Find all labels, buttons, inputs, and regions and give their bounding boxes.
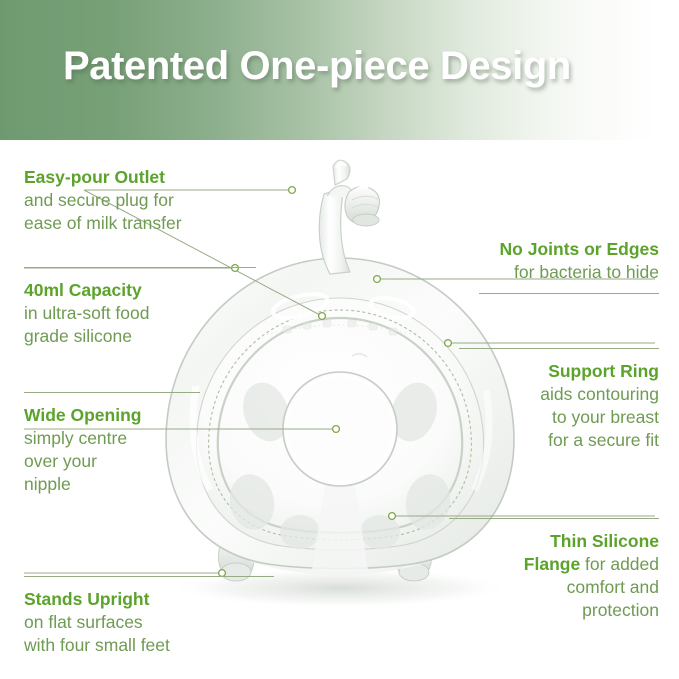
callout-wide-opening: Wide Opening simply centre over your nip…	[24, 392, 200, 496]
marker-thin-flange	[389, 513, 396, 520]
marker-easy-pour-plug	[319, 313, 326, 320]
page-title: Patented One-piece Design	[63, 44, 571, 89]
callout-40ml-capacity: 40ml Capacity in ultra-soft food grade s…	[24, 267, 256, 348]
callout-stands-upright: Stands Upright on flat surfaces with fou…	[24, 576, 274, 657]
callout-support-ring-text: Support Ring aids contouring to your bre…	[459, 360, 659, 452]
callout-wide-opening-text: Wide Opening simply centre over your nip…	[24, 404, 200, 496]
callout-body-line: grade silicone	[24, 326, 132, 346]
callout-divider	[449, 518, 659, 519]
marker-support-ring	[445, 340, 452, 347]
callout-divider	[24, 576, 274, 577]
callout-body-line: over your	[24, 451, 97, 471]
callout-body-line: with four small feet	[24, 635, 170, 655]
marker-no-joints	[374, 276, 381, 283]
callout-40ml-capacity-text: 40ml Capacity in ultra-soft food grade s…	[24, 279, 256, 348]
callout-heading: Support Ring	[548, 361, 659, 381]
callout-heading-continued: Flange	[524, 554, 580, 574]
callout-heading: Easy-pour Outlet	[24, 167, 165, 187]
header-banner: Patented One-piece Design	[0, 0, 679, 140]
callout-body-line: aids contouring	[540, 384, 659, 404]
callout-body-line: in ultra-soft food	[24, 303, 149, 323]
callout-support-ring: Support Ring aids contouring to your bre…	[459, 348, 659, 452]
callout-body-line: protection	[582, 600, 659, 620]
marker-easy-pour-outlet	[289, 187, 296, 194]
secure-plug	[345, 186, 379, 226]
callout-body-line: to your breast	[552, 407, 659, 427]
callout-body-line: for bacteria to hide	[514, 262, 659, 282]
callout-heading: Wide Opening	[24, 405, 141, 425]
callout-divider	[459, 348, 659, 349]
callout-heading: No Joints or Edges	[500, 239, 659, 259]
callout-body-line: nipple	[24, 474, 71, 494]
callout-divider	[24, 392, 200, 393]
callout-easy-pour-outlet-text: Easy-pour Outlet and secure plug for eas…	[24, 166, 174, 235]
callout-no-joints-or-edges: No Joints or Edges for bacteria to hide	[479, 238, 659, 294]
callout-divider	[24, 267, 256, 268]
callout-heading: Stands Upright	[24, 589, 149, 609]
callout-thin-silicone-flange-text: Thin Silicone Flange for added comfort a…	[449, 530, 659, 622]
callout-body-line: and secure plug for	[24, 190, 174, 210]
callout-body-line: simply centre	[24, 428, 127, 448]
callout-easy-pour-outlet: Easy-pour Outlet and secure plug for eas…	[24, 166, 174, 235]
callout-heading: 40ml Capacity	[24, 280, 142, 300]
callout-body-line: for a secure fit	[548, 430, 659, 450]
easy-pour-spout	[319, 160, 352, 274]
callout-heading: Thin Silicone	[550, 531, 659, 551]
callout-thin-silicone-flange: Thin Silicone Flange for added comfort a…	[449, 518, 659, 622]
marker-wide-opening	[333, 426, 340, 433]
callout-stands-upright-text: Stands Upright on flat surfaces with fou…	[24, 588, 274, 657]
callout-heading-tail: for added	[580, 554, 659, 574]
callout-body-line: on flat surfaces	[24, 612, 143, 632]
callout-divider	[479, 293, 659, 294]
callout-body-line: ease of milk transfer	[24, 213, 182, 233]
callout-body-line: comfort and	[567, 577, 659, 597]
callout-no-joints-or-edges-text: No Joints or Edges for bacteria to hide	[479, 238, 659, 284]
